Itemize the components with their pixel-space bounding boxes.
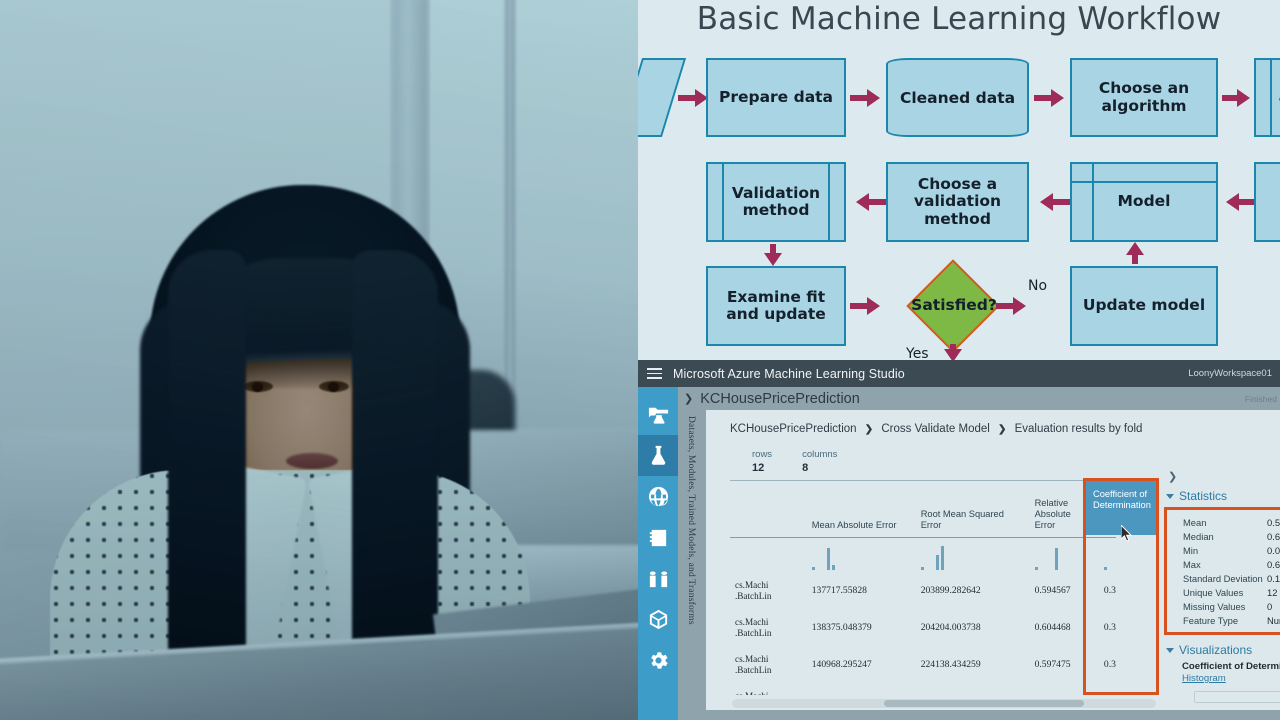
cell-relative-absolute-error: 0.604468 bbox=[1030, 610, 1099, 647]
pane-expand-chevron-icon[interactable]: ❯ bbox=[1168, 470, 1280, 483]
arrow-satisfied-no-to-update bbox=[996, 303, 1022, 309]
table-sparkline-row bbox=[730, 537, 1116, 573]
sparkline bbox=[1104, 540, 1116, 570]
highlighted-column-header-label: Coefficient of Determination bbox=[1086, 481, 1156, 511]
cell-row-label: cs.Machi .BatchLin bbox=[730, 610, 807, 647]
breadcrumb-item-1[interactable]: Cross Validate Model bbox=[881, 423, 989, 435]
folder-flask-icon bbox=[647, 403, 670, 426]
experiment-header-bar: ❯ KCHousePricePrediction Finished bbox=[678, 387, 1280, 410]
meta-rows-key: rows bbox=[752, 449, 772, 460]
cell-row-label: cs.Machi .BatchLin bbox=[730, 647, 807, 684]
node-model: Model bbox=[1070, 162, 1218, 242]
column-header-root-mean-squared-error[interactable]: Root Mean Squared Error bbox=[916, 481, 1030, 537]
visualization-column-name: Coefficient of Determination bbox=[1182, 661, 1280, 672]
stat-key: Unique Values bbox=[1183, 587, 1267, 598]
arrow-prepare-to-cleaned bbox=[850, 95, 876, 101]
meta-rows: rows 12 bbox=[752, 449, 772, 474]
stat-key: Standard Deviation bbox=[1183, 573, 1267, 584]
meta-rows-value: 12 bbox=[752, 462, 772, 474]
meta-columns-key: columns bbox=[802, 449, 837, 460]
sidebar-item-notebooks[interactable] bbox=[638, 517, 678, 558]
stat-value: 0.6555 bbox=[1267, 531, 1280, 542]
stat-value: 0 bbox=[1267, 601, 1272, 612]
visualizations-section-title: Visualizations bbox=[1179, 643, 1252, 657]
arrow-choosevalidation-to-validation bbox=[860, 199, 886, 205]
stat-row: Unique Values 12 bbox=[1167, 585, 1280, 599]
node-cleaned-data: Cleaned data bbox=[886, 58, 1029, 137]
stat-value: 0.5999 bbox=[1267, 517, 1280, 528]
cell-root-mean-squared-error: 224138.434259 bbox=[916, 647, 1030, 684]
stat-value: 12 bbox=[1267, 587, 1277, 598]
arrow-cleaned-to-choose bbox=[1034, 95, 1060, 101]
sidebar-item-web-services[interactable] bbox=[638, 476, 678, 517]
node-examine-fit-and-update: Examine fit and update bbox=[706, 266, 846, 346]
cell-relative-absolute-error: 0.597475 bbox=[1030, 647, 1099, 684]
table-row[interactable]: cs.Machi .BatchLin 140968.295247 224138.… bbox=[730, 647, 1116, 684]
sidebar-item-experiments[interactable] bbox=[638, 435, 678, 476]
node-validation-method: Validation method bbox=[706, 162, 846, 242]
node-choose-validation-method: Choose a validation method bbox=[886, 162, 1029, 242]
azure-top-bar: Microsoft Azure Machine Learning Studio … bbox=[638, 360, 1280, 387]
table-header-row: Mean Absolute Error Root Mean Squared Er… bbox=[730, 481, 1116, 537]
visualization-type-link[interactable]: Histogram bbox=[1182, 673, 1280, 684]
slide-title: Basic Machine Learning Workflow bbox=[638, 1, 1280, 37]
node-satisfied-label: Satisfied? bbox=[910, 296, 998, 314]
arrow-model-to-choosevalidation bbox=[1044, 199, 1070, 205]
stock-photo-woman-at-computer bbox=[0, 0, 640, 720]
globe-icon bbox=[647, 485, 670, 508]
screenshot-root: Basic Machine Learning Workflow Prepare … bbox=[0, 0, 1280, 720]
stat-row: Mean 0.5999 bbox=[1167, 515, 1280, 529]
azure-nav-rail bbox=[638, 387, 678, 720]
cell-mean-absolute-error: 138375.048379 bbox=[807, 610, 916, 647]
edge-label-no: No bbox=[1028, 278, 1047, 294]
statistics-section-title: Statistics bbox=[1179, 489, 1227, 503]
module-palette-label: Datasets, Modules, Trained Models, and T… bbox=[686, 416, 696, 625]
datasets-icon bbox=[647, 567, 670, 590]
sparkline-mean-absolute-error bbox=[807, 537, 916, 573]
stat-key: Mean bbox=[1183, 517, 1267, 528]
cell-root-mean-squared-error: 204204.003738 bbox=[916, 610, 1030, 647]
notebook-icon bbox=[647, 526, 670, 549]
sidebar-item-projects[interactable] bbox=[638, 394, 678, 435]
table-row[interactable]: cs.Machi .BatchLin 138375.048379 204204.… bbox=[730, 610, 1116, 647]
stat-row: Max 0.6735 bbox=[1167, 557, 1280, 571]
flask-icon bbox=[647, 444, 670, 467]
azure-ml-studio-window: Microsoft Azure Machine Learning Studio … bbox=[638, 360, 1280, 720]
results-panel: KCHousePricePrediction ❯ Cross Validate … bbox=[706, 410, 1280, 720]
hamburger-icon[interactable] bbox=[647, 368, 662, 379]
cell-relative-absolute-error bbox=[1030, 684, 1099, 696]
breadcrumb-separator: ❯ bbox=[998, 424, 1006, 435]
arrow-right-to-model bbox=[1230, 199, 1254, 205]
breadcrumb-item-0[interactable]: KCHousePricePrediction bbox=[730, 423, 857, 435]
cell-row-label: cs.Machi .BatchLin bbox=[730, 573, 807, 610]
sparkline-relative-absolute-error bbox=[1030, 537, 1099, 573]
stat-row: Min 0.0167 bbox=[1167, 543, 1280, 557]
chevron-right-icon[interactable]: ❯ bbox=[684, 392, 693, 405]
cell-mean-absolute-error: 140968.295247 bbox=[807, 647, 916, 684]
visualization-histogram-preview[interactable] bbox=[1194, 691, 1280, 703]
stat-key: Min bbox=[1183, 545, 1267, 556]
mouse-cursor bbox=[1121, 525, 1133, 547]
cell-relative-squared-error: 0.341945 bbox=[1099, 647, 1116, 684]
node-model-right-partial bbox=[1254, 162, 1280, 242]
experiment-title: KCHousePricePrediction bbox=[700, 391, 860, 407]
workspace-name[interactable]: LoonyWorkspace01 bbox=[1188, 368, 1272, 379]
cell-root-mean-squared-error bbox=[916, 684, 1030, 696]
cell-relative-squared-error bbox=[1099, 684, 1116, 696]
stat-row: Median 0.6555 bbox=[1167, 529, 1280, 543]
node-cleaned-data-label: Cleaned data bbox=[900, 89, 1015, 107]
cell-relative-absolute-error: 0.594567 bbox=[1030, 573, 1099, 610]
stat-key: Max bbox=[1183, 559, 1267, 570]
node-train-model-partial: a bbox=[1254, 58, 1280, 137]
statistics-box: Mean 0.5999 Median 0.6555 Min 0.0167 Max… bbox=[1164, 507, 1280, 635]
stat-value: 0.6735 bbox=[1267, 559, 1280, 570]
breadcrumb-separator: ❯ bbox=[865, 424, 873, 435]
stat-value: 0.0167 bbox=[1267, 545, 1280, 556]
cell-root-mean-squared-error: 203899.282642 bbox=[916, 573, 1030, 610]
sidebar-item-settings[interactable] bbox=[638, 640, 678, 681]
sparkline-root-mean-squared-error bbox=[916, 537, 1030, 573]
sparkline bbox=[1035, 540, 1094, 570]
table-row[interactable]: cs.Machi .BatchLin 137717.55828 203899.2… bbox=[730, 573, 1116, 610]
sparkline-relative-squared-error bbox=[1099, 537, 1116, 573]
cell-relative-squared-error: 0.339529 bbox=[1099, 573, 1116, 610]
breadcrumb: KCHousePricePrediction ❯ Cross Validate … bbox=[730, 423, 1142, 435]
statistics-section-header[interactable]: Statistics bbox=[1166, 489, 1280, 503]
sidebar-item-datasets[interactable] bbox=[638, 558, 678, 599]
cell-relative-squared-error: 0.377138 bbox=[1099, 610, 1116, 647]
arrow-choose-to-train bbox=[1222, 95, 1246, 101]
scrollbar-thumb[interactable] bbox=[884, 700, 1084, 707]
sparkline bbox=[812, 540, 911, 570]
visualizations-section-header[interactable]: Visualizations bbox=[1166, 643, 1280, 657]
cell-mean-absolute-error: 137717.55828 bbox=[807, 573, 916, 610]
module-palette-collapsed[interactable]: Datasets, Modules, Trained Models, and T… bbox=[678, 410, 706, 720]
stat-row: Missing Values 0 bbox=[1167, 599, 1280, 613]
triangle-collapse-icon bbox=[1166, 648, 1174, 653]
node-choose-algorithm: Choose an algorithm bbox=[1070, 58, 1218, 137]
sidebar-item-trained-models[interactable] bbox=[638, 599, 678, 640]
cube-icon bbox=[647, 608, 670, 631]
results-table: Mean Absolute Error Root Mean Squared Er… bbox=[730, 481, 1116, 695]
cell-mean-absolute-error bbox=[807, 684, 916, 696]
node-update-model: Update model bbox=[1070, 266, 1218, 346]
column-details-pane: ❯ Statistics Mean 0.5999 Median 0.6555 bbox=[1164, 470, 1280, 720]
stat-value: 0.1843 bbox=[1267, 573, 1280, 584]
dataset-meta: rows 12 columns 8 bbox=[752, 449, 837, 474]
experiment-status: Finished bbox=[1245, 394, 1277, 404]
meta-columns: columns 8 bbox=[802, 449, 837, 474]
horizontal-scrollbar[interactable] bbox=[732, 699, 1156, 708]
edge-label-yes: Yes bbox=[906, 346, 929, 360]
triangle-collapse-icon bbox=[1166, 494, 1174, 499]
stat-value: Numeric Featur bbox=[1267, 615, 1280, 626]
arrow-update-to-model bbox=[1132, 246, 1138, 264]
azure-app-title: Microsoft Azure Machine Learning Studio bbox=[673, 367, 905, 381]
table-row[interactable]: cs.Machi bbox=[730, 684, 1116, 696]
arrow-satisfied-yes-down bbox=[950, 344, 956, 358]
stat-key: Feature Type bbox=[1183, 615, 1267, 626]
gear-icon bbox=[647, 649, 670, 672]
arrow-rawdata-to-prepare bbox=[678, 95, 704, 101]
stat-row: Standard Deviation 0.1843 bbox=[1167, 571, 1280, 585]
results-grid[interactable]: Mean Absolute Error Root Mean Squared Er… bbox=[730, 480, 1116, 695]
meta-columns-value: 8 bbox=[802, 462, 837, 474]
ml-workflow-slide: Basic Machine Learning Workflow Prepare … bbox=[638, 0, 1280, 360]
photo-blue-tint-layer bbox=[0, 0, 640, 720]
sparkline-cell-empty bbox=[730, 537, 807, 573]
stat-key: Missing Values bbox=[1183, 601, 1267, 612]
arrow-examine-to-satisfied bbox=[850, 303, 876, 309]
node-prepare-data: Prepare data bbox=[706, 58, 846, 137]
sparkline bbox=[921, 540, 1025, 570]
breadcrumb-item-2[interactable]: Evaluation results by fold bbox=[1015, 423, 1143, 435]
column-header-mean-absolute-error[interactable]: Mean Absolute Error bbox=[807, 481, 916, 537]
stat-key: Median bbox=[1183, 531, 1267, 542]
arrow-validation-to-examine bbox=[770, 244, 776, 262]
cell-row-label: cs.Machi bbox=[730, 684, 807, 696]
column-header-label[interactable] bbox=[730, 481, 807, 537]
stat-row: Feature Type Numeric Featur bbox=[1167, 613, 1280, 627]
